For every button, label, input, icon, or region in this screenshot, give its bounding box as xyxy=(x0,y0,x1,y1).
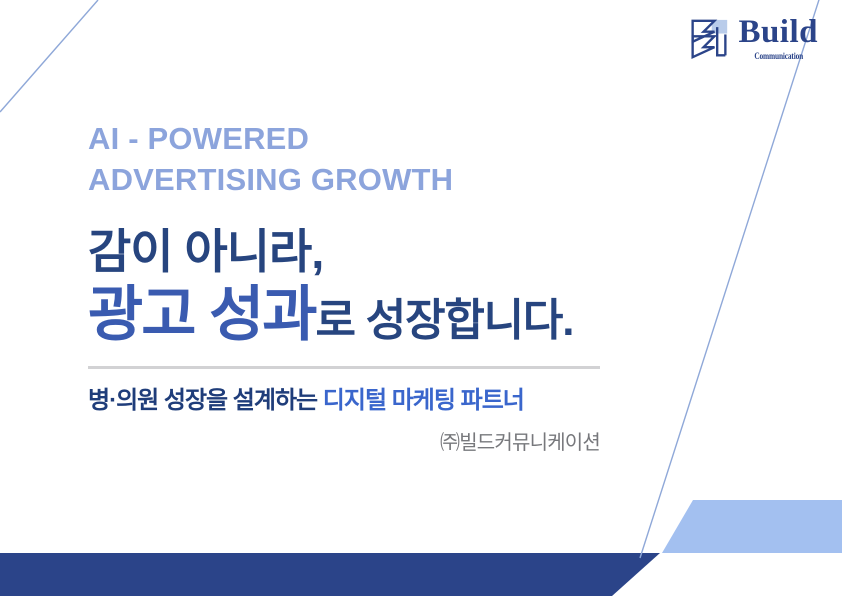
bottom-navy-bar xyxy=(0,553,660,596)
logo-subtitle: Communication xyxy=(754,52,803,61)
tagline: 병·의원 성장을 설계하는 디지털 마케팅 파트너 xyxy=(88,387,768,416)
slide-canvas: Build Communication AI - POWERED ADVERTI… xyxy=(0,0,842,596)
company-name: ㈜빌드커뮤니케이션 xyxy=(88,426,600,455)
brand-logo: Build Communication xyxy=(689,16,818,61)
tagline-plain: 병·의원 성장을 설계하는 xyxy=(88,387,323,414)
headline-line-1: 감이 아니라, xyxy=(88,226,768,279)
headline-rest: 로 성장합니다. xyxy=(315,298,573,344)
headline-line-2: 광고 성과로 성장합니다. xyxy=(88,283,768,346)
eyebrow-text: AI - POWERED ADVERTISING GROWTH xyxy=(88,118,768,200)
headline: 감이 아니라, 광고 성과로 성장합니다. xyxy=(88,226,768,346)
logo-word: Build xyxy=(738,16,818,49)
build-b-monogram-icon xyxy=(689,18,729,60)
divider-rule xyxy=(88,366,600,369)
headline-accent: 광고 성과 xyxy=(88,283,315,346)
top-left-diagonal-line xyxy=(0,0,98,112)
tagline-emphasis: 디지털 마케팅 파트너 xyxy=(323,387,524,414)
light-blue-band xyxy=(662,500,842,553)
hero-copy-block: AI - POWERED ADVERTISING GROWTH 감이 아니라, … xyxy=(88,118,768,455)
logo-wordmark: Build Communication xyxy=(738,16,818,61)
